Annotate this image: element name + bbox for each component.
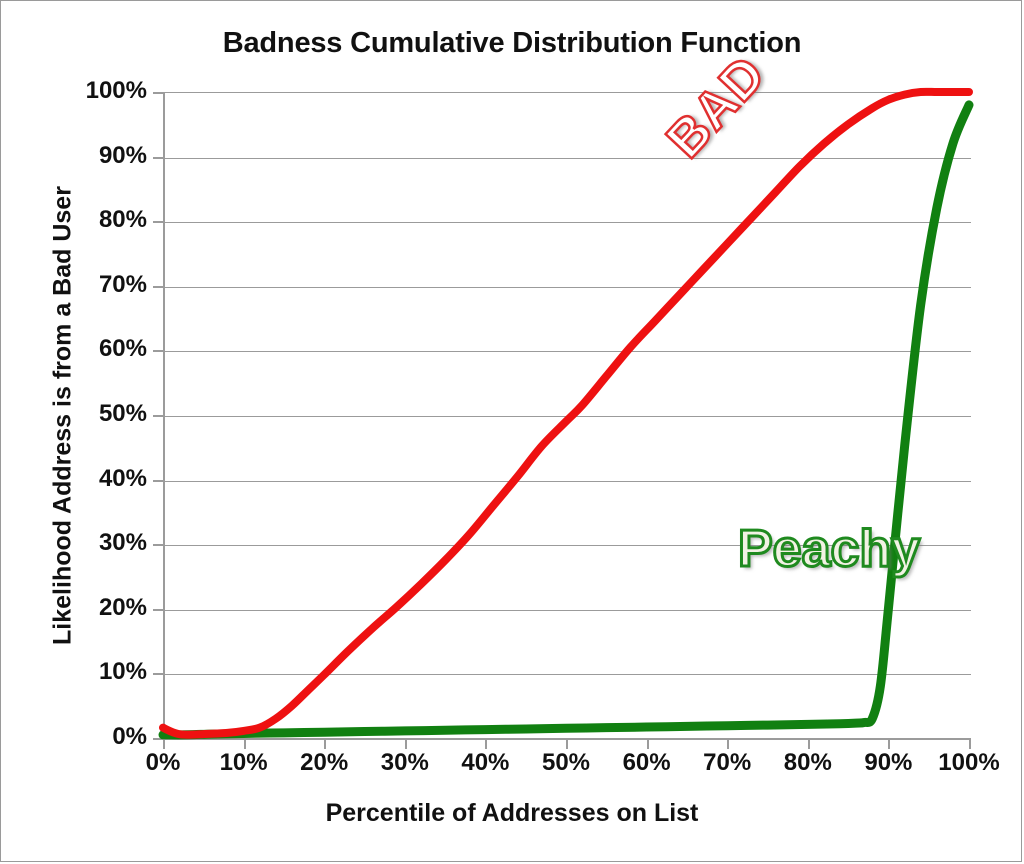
series-curves [163, 92, 969, 738]
y-tick-label: 100% [1, 77, 147, 105]
y-tick-label: 10% [1, 658, 147, 686]
x-tick [324, 738, 326, 749]
y-tick-label: 90% [1, 142, 147, 170]
series-line-bad [163, 92, 969, 735]
x-tick [163, 738, 165, 749]
x-tick-label: 100% [909, 749, 1024, 777]
y-tick-label: 50% [1, 400, 147, 428]
x-axis-title: Percentile of Addresses on List [1, 799, 1023, 828]
y-tick-label: 20% [1, 594, 147, 622]
x-tick [485, 738, 487, 749]
y-tick-label: 0% [1, 723, 147, 751]
y-tick-label: 40% [1, 465, 147, 493]
y-tick-label: 60% [1, 335, 147, 363]
x-tick [647, 738, 649, 749]
x-tick [969, 738, 971, 749]
chart-frame: Badness Cumulative Distribution Function… [0, 0, 1022, 862]
y-tick-label: 80% [1, 206, 147, 234]
y-tick-label: 30% [1, 529, 147, 557]
x-tick [888, 738, 890, 749]
page-title: Badness Cumulative Distribution Function [1, 27, 1023, 60]
x-tick [727, 738, 729, 749]
x-tick [244, 738, 246, 749]
x-tick [405, 738, 407, 749]
x-tick [808, 738, 810, 749]
y-tick-label: 70% [1, 271, 147, 299]
x-tick [566, 738, 568, 749]
